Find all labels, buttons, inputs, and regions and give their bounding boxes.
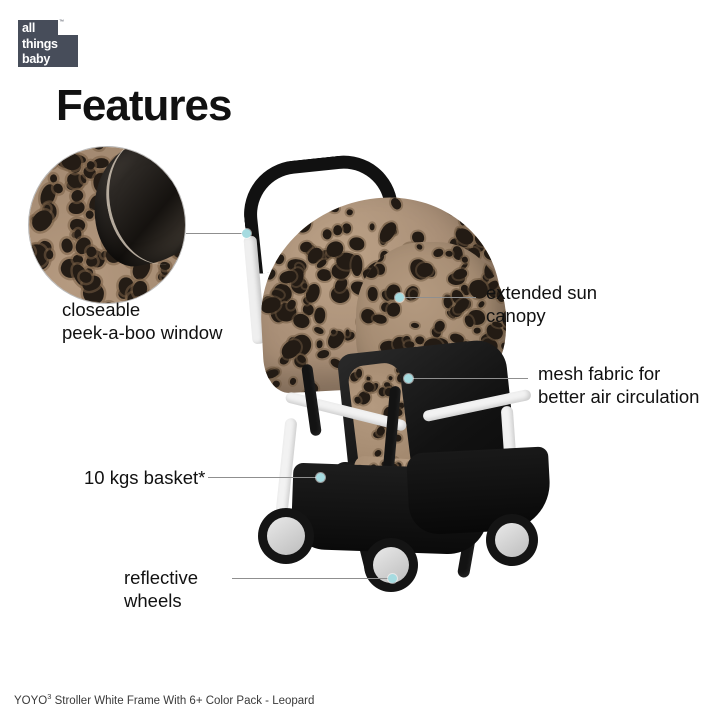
callout-mesh-fabric-line1: mesh fabric for (538, 362, 699, 385)
anchor-dot-mesh-fabric (404, 374, 413, 383)
callout-reflective-wheels-line2: wheels (124, 589, 198, 612)
peek-a-boo-detail-photo (28, 146, 186, 304)
stroller-product-photo (236, 150, 566, 590)
wheel-rim (495, 523, 529, 557)
callout-basket: 10 kgs basket* (84, 466, 205, 489)
wheel-front-left (364, 538, 418, 592)
callout-reflective-wheels: reflective wheels (124, 566, 198, 612)
product-caption: YOYO3 Stroller White Frame With 6+ Color… (14, 690, 314, 708)
callout-peek-a-boo-line1: closeable (62, 298, 222, 321)
caption-rest: Stroller White Frame With 6+ Color Pack … (51, 695, 314, 707)
callout-sun-canopy-line2: canopy (486, 304, 597, 327)
anchor-dot-sun-canopy (395, 293, 404, 302)
callout-peek-a-boo: closeable peek-a-boo window (62, 298, 222, 344)
wheel-rear-right (486, 514, 538, 566)
frame-bar-upper-right (422, 389, 532, 423)
leader-line-basket (208, 477, 320, 478)
logo-wordmark: all things baby (18, 20, 78, 67)
page-title: Features (56, 82, 231, 130)
infographic-canvas: ™ all things baby Features (0, 0, 720, 720)
logo-line-baby: baby (22, 52, 78, 68)
leader-line-sun-canopy (398, 297, 476, 298)
wheel-rim (267, 517, 305, 555)
callout-mesh-fabric-line2: better air circulation (538, 385, 699, 408)
brand-logo[interactable]: ™ all things baby (18, 20, 78, 67)
callout-basket-line1: 10 kgs basket* (84, 466, 205, 489)
logo-line-all: all (22, 21, 78, 37)
callout-reflective-wheels-line1: reflective (124, 566, 198, 589)
callout-sun-canopy-line1: extended sun (486, 281, 597, 304)
leader-line-reflective-wheels (232, 578, 392, 579)
callout-mesh-fabric: mesh fabric for better air circulation (538, 362, 699, 408)
anchor-dot-basket (316, 473, 325, 482)
logo-line-things: things (22, 37, 78, 53)
callout-sun-canopy: extended sun canopy (486, 281, 597, 327)
leader-line-mesh-fabric (408, 378, 528, 379)
anchor-dot-reflective-wheels (388, 574, 397, 583)
leader-line-peek-a-boo (186, 233, 246, 234)
inset-image (28, 146, 186, 304)
wheel-rear-left (258, 508, 314, 564)
caption-model: YOYO (14, 695, 47, 707)
anchor-dot-peek-a-boo (242, 229, 251, 238)
callout-peek-a-boo-line2: peek-a-boo window (62, 321, 222, 344)
